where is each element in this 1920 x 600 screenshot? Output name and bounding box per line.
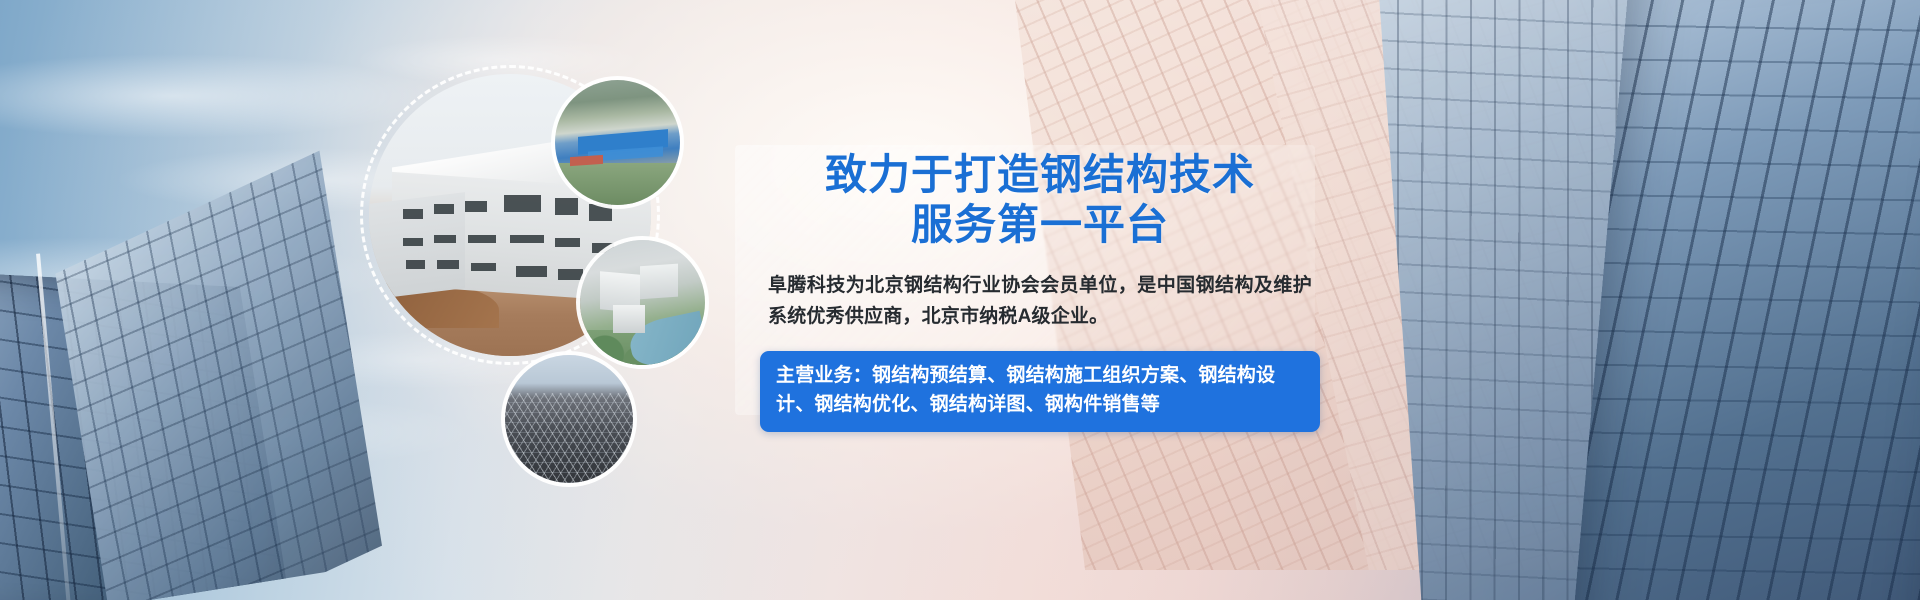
banner-headline: 致力于打造钢结构技术 服务第一平台 — [760, 150, 1320, 249]
hero-banner: 致力于打造钢结构技术 服务第一平台 阜腾科技为北京钢结构行业协会会员单位，是中国… — [0, 0, 1920, 600]
plant-photo-content — [555, 80, 680, 205]
campus-building-3 — [613, 305, 646, 333]
window — [471, 263, 496, 271]
window — [504, 195, 541, 212]
window — [468, 235, 496, 243]
window — [434, 235, 457, 243]
campus-buildings-river-photo — [580, 240, 705, 365]
window — [403, 209, 423, 219]
right-glass-towers — [1230, 0, 1920, 600]
plant-greenery — [555, 163, 680, 206]
campus-building-2 — [640, 264, 678, 299]
window — [510, 235, 544, 243]
blue-roof-industrial-plant-photo — [555, 80, 680, 205]
headline-line-1: 致力于打造钢结构技术 — [825, 150, 1255, 199]
window — [555, 238, 580, 248]
banner-content: 致力于打造钢结构技术 服务第一平台 阜腾科技为北京钢结构行业协会会员单位，是中国… — [760, 150, 1320, 432]
window — [434, 204, 454, 214]
banner-description: 阜腾科技为北京钢结构行业协会会员单位，是中国钢结构及维护系统优秀供应商，北京市纳… — [760, 271, 1320, 333]
window — [589, 204, 612, 221]
right-tower-front — [1566, 0, 1920, 600]
window — [437, 260, 460, 268]
truss-photo-content — [505, 355, 633, 483]
window — [516, 266, 547, 277]
steel-truss-roof-structure-photo — [505, 355, 633, 483]
steel-truss-grid — [505, 393, 633, 483]
headline-line-2: 服务第一平台 — [760, 200, 1320, 250]
left-glass-tower — [0, 148, 385, 600]
business-scope-box: 主营业务：钢结构预结算、钢结构施工组织方案、钢结构设计、钢结构优化、钢结构详图、… — [760, 351, 1320, 433]
window — [403, 238, 423, 246]
window — [465, 201, 488, 212]
window — [406, 260, 426, 268]
campus-photo-content — [580, 240, 705, 365]
photo-collage — [330, 55, 760, 475]
